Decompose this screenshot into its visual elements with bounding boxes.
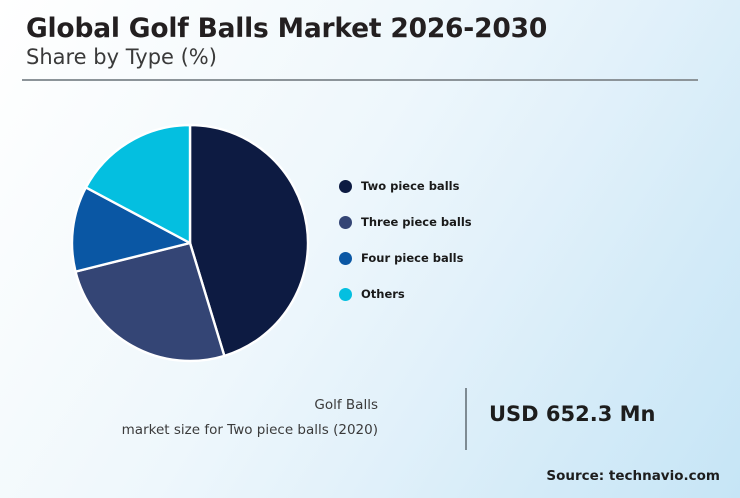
infographic-canvas: Global Golf Balls Market 2026-2030 Share… bbox=[0, 0, 740, 498]
legend-dot-icon bbox=[339, 252, 352, 265]
callout-line-2: market size for Two piece balls (2020) bbox=[48, 418, 378, 443]
legend-dot-icon bbox=[339, 180, 352, 193]
pie-slice-group bbox=[72, 125, 308, 361]
page-title: Global Golf Balls Market 2026-2030 bbox=[26, 14, 698, 44]
header-divider bbox=[22, 79, 698, 81]
callout-description: Golf Balls market size for Two piece bal… bbox=[48, 393, 378, 443]
legend-label-three-piece-balls: Three piece balls bbox=[361, 215, 472, 229]
market-size-callout: Golf Balls market size for Two piece bal… bbox=[140, 388, 700, 450]
callout-value: USD 652.3 Mn bbox=[489, 402, 656, 426]
legend-dot-icon bbox=[339, 216, 352, 229]
legend-item-four-piece-balls[interactable]: Four piece balls bbox=[339, 240, 599, 276]
legend-label-two-piece-balls: Two piece balls bbox=[361, 179, 459, 193]
legend-dot-icon bbox=[339, 288, 352, 301]
pie-chart bbox=[62, 115, 318, 371]
pie-chart-svg bbox=[62, 115, 318, 371]
callout-divider bbox=[465, 388, 467, 450]
legend-item-three-piece-balls[interactable]: Three piece balls bbox=[339, 204, 599, 240]
callout-line-1: Golf Balls bbox=[48, 393, 378, 418]
legend-label-others: Others bbox=[361, 287, 405, 301]
legend-item-others[interactable]: Others bbox=[339, 276, 599, 312]
legend-label-four-piece-balls: Four piece balls bbox=[361, 251, 463, 265]
source-attribution: Source: technavio.com bbox=[546, 468, 720, 484]
chart-header: Global Golf Balls Market 2026-2030 Share… bbox=[26, 14, 698, 70]
chart-legend: Two piece balls Three piece balls Four p… bbox=[339, 168, 599, 312]
legend-item-two-piece-balls[interactable]: Two piece balls bbox=[339, 168, 599, 204]
page-subtitle: Share by Type (%) bbox=[26, 45, 698, 70]
